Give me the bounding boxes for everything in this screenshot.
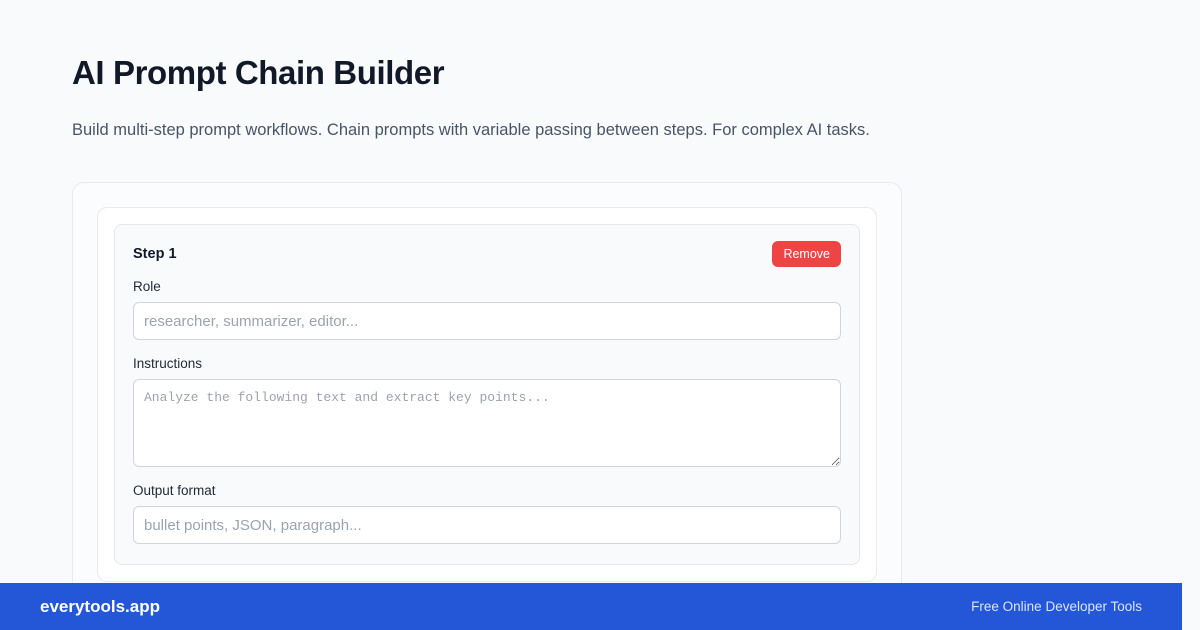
field-group-role: Role xyxy=(133,279,841,340)
field-group-instructions: Instructions xyxy=(133,356,841,467)
page-description: Build multi-step prompt workflows. Chain… xyxy=(72,116,917,144)
instructions-label: Instructions xyxy=(133,356,841,371)
builder-panel: Step 1 Remove Role Instructions Output f… xyxy=(72,182,902,607)
footer-tagline: Free Online Developer Tools xyxy=(971,599,1142,614)
right-gutter xyxy=(1182,0,1200,630)
page-title: AI Prompt Chain Builder xyxy=(72,52,1110,94)
field-group-output-format: Output format xyxy=(133,483,841,544)
step-card: Step 1 Remove Role Instructions Output f… xyxy=(114,224,860,565)
remove-step-button[interactable]: Remove xyxy=(772,241,841,268)
role-label: Role xyxy=(133,279,841,294)
footer-brand[interactable]: everytools.app xyxy=(40,597,160,617)
output-format-label: Output format xyxy=(133,483,841,498)
steps-container: Step 1 Remove Role Instructions Output f… xyxy=(97,207,877,582)
page-content: AI Prompt Chain Builder Build multi-step… xyxy=(0,0,1182,607)
role-input[interactable] xyxy=(133,302,841,340)
page-root: AI Prompt Chain Builder Build multi-step… xyxy=(0,0,1182,630)
site-footer: everytools.app Free Online Developer Too… xyxy=(0,583,1182,630)
step-header: Step 1 Remove xyxy=(133,241,841,267)
step-title: Step 1 xyxy=(133,246,177,262)
instructions-textarea[interactable] xyxy=(133,379,841,467)
output-format-input[interactable] xyxy=(133,506,841,544)
